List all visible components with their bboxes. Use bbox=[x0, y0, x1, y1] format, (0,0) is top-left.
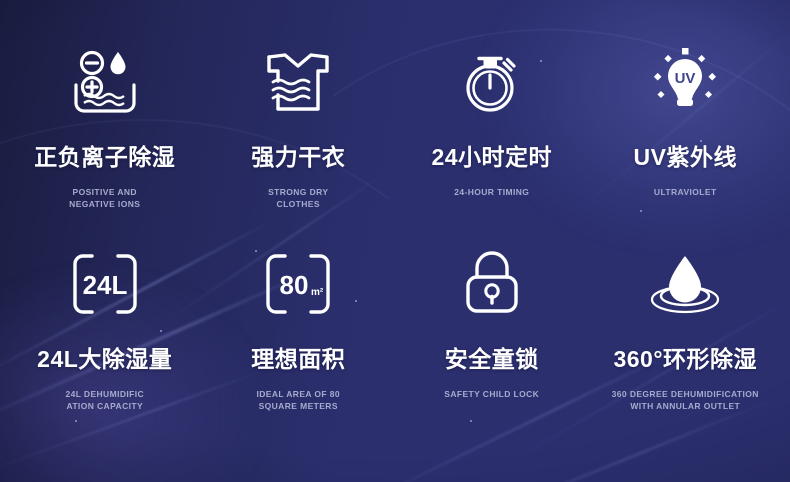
feature-item-uv: UV UV紫外线 ULTRAVIOLET bbox=[589, 44, 783, 246]
ion-dehumidify-icon bbox=[70, 44, 140, 120]
padlock-icon bbox=[461, 246, 523, 322]
icon-label-sqm: m² bbox=[311, 287, 324, 298]
feature-item-24h-timing: 24小时定时 24-HOUR TIMING bbox=[395, 44, 589, 246]
feature-title: 强力干衣 bbox=[251, 138, 345, 172]
feature-subtitle: ULTRAVIOLET bbox=[654, 186, 717, 198]
area-80m2-icon: 80 m² bbox=[263, 246, 333, 322]
feature-item-child-lock: 安全童锁 SAFETY CHILD LOCK bbox=[395, 246, 589, 448]
tshirt-dry-icon bbox=[265, 44, 331, 120]
feature-banner: 正负离子除湿 POSITIVE ANDNEGATIVE IONS 强力干衣 ST… bbox=[0, 0, 790, 482]
feature-item-ideal-area: 80 m² 理想面积 IDEAL AREA OF 80SQUARE METERS bbox=[202, 246, 396, 448]
feature-subtitle: SAFETY CHILD LOCK bbox=[444, 388, 539, 400]
feature-title: 安全童锁 bbox=[445, 340, 539, 374]
icon-label-24l: 24L bbox=[82, 270, 127, 300]
feature-grid: 正负离子除湿 POSITIVE ANDNEGATIVE IONS 强力干衣 ST… bbox=[0, 0, 790, 482]
feature-subtitle: 24L DEHUMIDIFICATION CAPACITY bbox=[65, 388, 144, 413]
feature-item-24l-capacity: 24L 24L大除湿量 24L DEHUMIDIFICATION CAPACIT… bbox=[8, 246, 202, 448]
feature-subtitle: 24-HOUR TIMING bbox=[454, 186, 529, 198]
feature-item-strong-dry: 强力干衣 STRONG DRYCLOTHES bbox=[202, 44, 396, 246]
capacity-24l-icon: 24L bbox=[70, 246, 140, 322]
uv-bulb-icon: UV bbox=[649, 44, 721, 120]
feature-title: 24L大除湿量 bbox=[37, 340, 172, 374]
icon-label-80: 80 bbox=[280, 270, 309, 300]
feature-item-ion-dehumidify: 正负离子除湿 POSITIVE ANDNEGATIVE IONS bbox=[8, 44, 202, 246]
water-drop-ripple-icon bbox=[649, 246, 721, 322]
feature-subtitle: POSITIVE ANDNEGATIVE IONS bbox=[69, 186, 140, 211]
feature-title: 正负离子除湿 bbox=[34, 138, 175, 172]
feature-item-360-dehumidify: 360°环形除湿 360 DEGREE DEHUMIDIFICATIONWITH… bbox=[589, 246, 783, 448]
feature-title: 360°环形除湿 bbox=[613, 340, 757, 374]
feature-title: 理想面积 bbox=[251, 340, 345, 374]
feature-subtitle: STRONG DRYCLOTHES bbox=[268, 186, 328, 211]
feature-subtitle: 360 DEGREE DEHUMIDIFICATIONWITH ANNULAR … bbox=[612, 388, 759, 413]
feature-title: UV紫外线 bbox=[634, 138, 737, 172]
stopwatch-icon bbox=[461, 44, 523, 120]
feature-subtitle: IDEAL AREA OF 80SQUARE METERS bbox=[256, 388, 340, 413]
feature-title: 24小时定时 bbox=[431, 138, 552, 172]
